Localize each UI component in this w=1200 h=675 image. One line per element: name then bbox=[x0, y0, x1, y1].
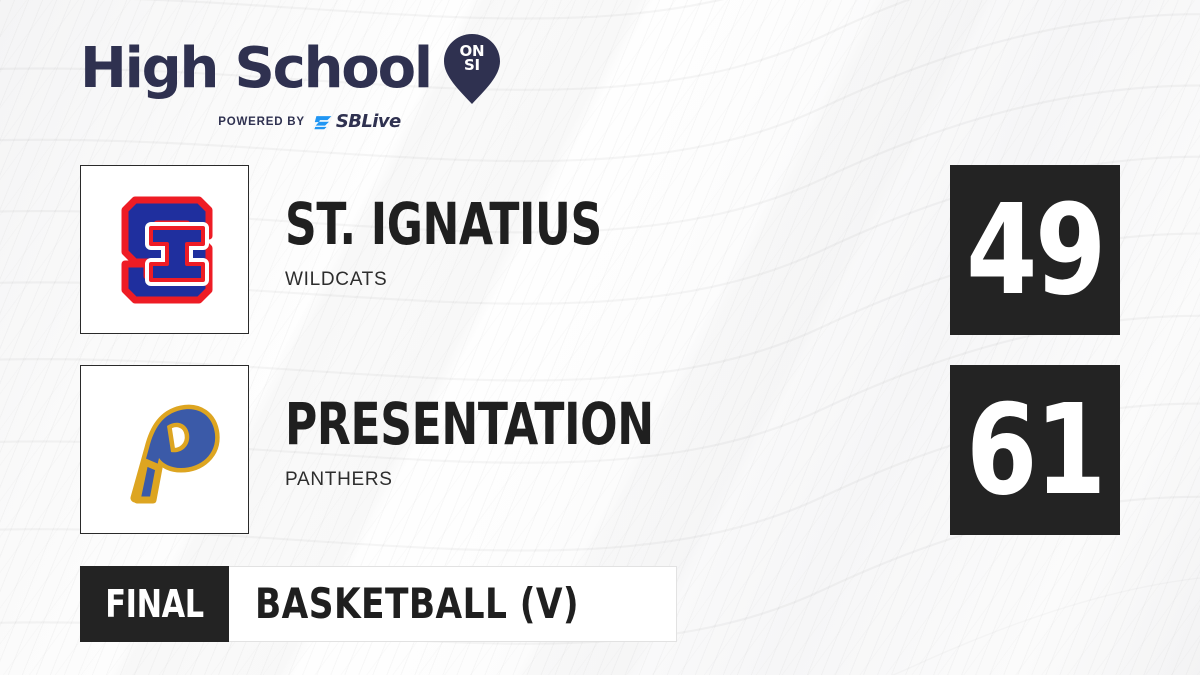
brand-header: High School ON SI POWERED BY SBLive bbox=[80, 32, 503, 131]
team-score: 49 bbox=[966, 188, 1104, 313]
presentation-script-p-logo bbox=[99, 384, 231, 516]
team-logo-card bbox=[80, 365, 249, 534]
team-mascot: PANTHERS bbox=[285, 469, 985, 491]
team-score: 61 bbox=[966, 388, 1104, 513]
sport-label: BASKETBALL (V) bbox=[255, 583, 579, 625]
team-mascot: WILDCATS bbox=[285, 269, 985, 291]
sblive-word-light: ive bbox=[372, 111, 400, 132]
scoreboard-graphic: High School ON SI POWERED BY SBLive bbox=[0, 0, 1200, 675]
brand-wordmark: High School ON SI bbox=[80, 32, 503, 106]
team-name: ST. IGNATIUS bbox=[285, 195, 817, 253]
team-score-box: 49 bbox=[950, 165, 1120, 335]
status-badge: FINAL bbox=[80, 566, 229, 642]
map-pin-icon: ON SI bbox=[441, 32, 503, 106]
sblive-word-bold: SBL bbox=[336, 111, 372, 132]
map-pin-label: ON SI bbox=[441, 44, 503, 73]
team-info: ST. IGNATIUS WILDCATS bbox=[285, 195, 985, 291]
sblive-logo: SBLive bbox=[314, 113, 401, 131]
team-score-box: 61 bbox=[950, 365, 1120, 535]
powered-by-row: POWERED BY SBLive bbox=[80, 113, 503, 131]
lightning-s-icon bbox=[314, 114, 333, 131]
status-badge-label: FINAL bbox=[105, 585, 203, 623]
team-name: PRESENTATION bbox=[285, 395, 817, 453]
brand-wordmark-text: High School bbox=[80, 41, 431, 97]
team-logo-card bbox=[80, 165, 249, 334]
sport-label-box: BASKETBALL (V) bbox=[229, 566, 677, 642]
pin-line-si: SI bbox=[464, 56, 480, 74]
game-status-bar: FINAL BASKETBALL (V) bbox=[80, 566, 677, 642]
powered-by-label: POWERED BY bbox=[218, 116, 305, 128]
st-ignatius-si-monogram-logo bbox=[99, 184, 231, 316]
sblive-wordmark: SBLive bbox=[336, 113, 401, 131]
team-info: PRESENTATION PANTHERS bbox=[285, 395, 985, 491]
